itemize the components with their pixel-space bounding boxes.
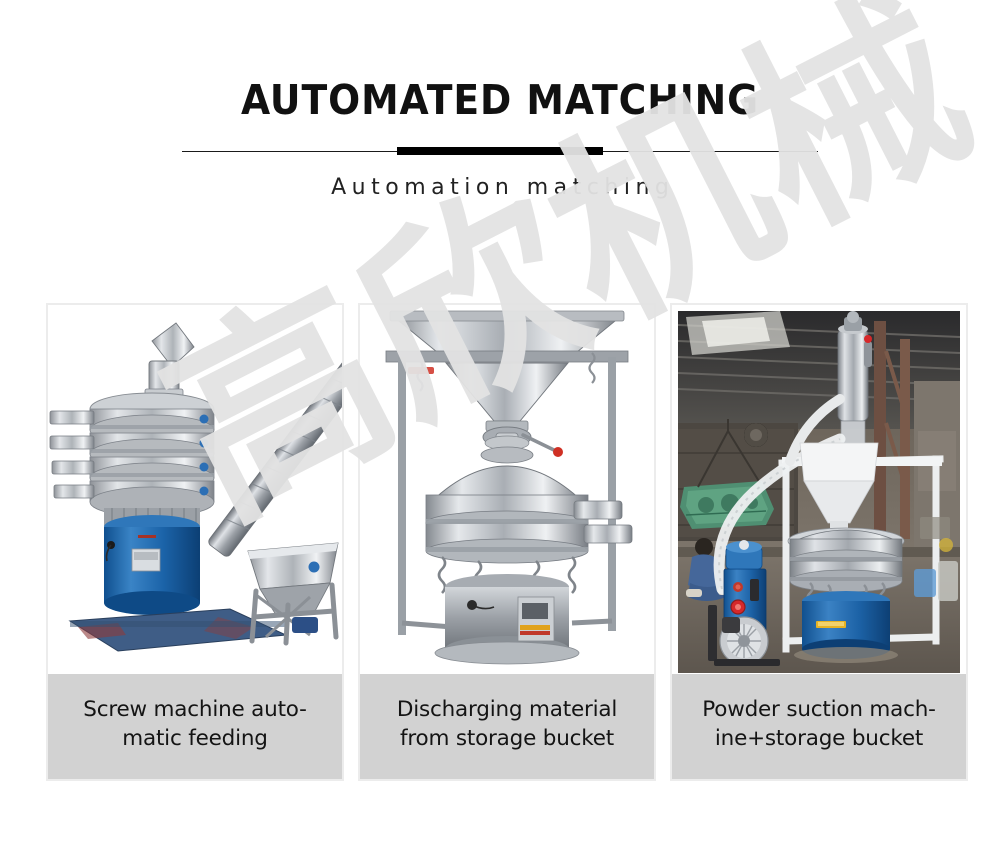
product-card[interactable]: Discharging material from storage bucket <box>358 303 656 781</box>
page-subtitle: Automation matching <box>0 175 1000 200</box>
caption-text: Discharging material from storage bucket <box>397 696 617 753</box>
product-card[interactable]: Powder suction mach- ine+storage bucket <box>670 303 968 781</box>
powder-suction-machine-storage-bucket-photo <box>672 305 966 674</box>
screw-feeder-illustration <box>48 305 342 674</box>
caption-line-1: Powder suction mach- <box>702 697 935 722</box>
product-card-grid: Screw machine auto- matic feeding <box>46 303 968 781</box>
powder-suction-illustration <box>678 311 960 673</box>
workshop-photo <box>678 311 960 673</box>
card-caption: Discharging material from storage bucket <box>360 674 654 779</box>
page-title: AUTOMATED MATCHING <box>40 78 960 123</box>
page-header: AUTOMATED MATCHING Automation matching <box>0 78 1000 200</box>
storage-bucket-discharge-illustration <box>360 305 654 674</box>
caption-line-2: matic feeding <box>122 726 268 751</box>
screw-machine-automatic-feeding-photo <box>48 305 342 674</box>
caption-text: Powder suction mach- ine+storage bucket <box>702 696 935 753</box>
caption-line-1: Screw machine auto- <box>83 697 306 722</box>
caption-line-2: from storage bucket <box>400 726 614 751</box>
caption-text: Screw machine auto- matic feeding <box>83 696 306 753</box>
caption-line-2: ine+storage bucket <box>715 726 923 751</box>
caption-line-1: Discharging material <box>397 697 617 722</box>
card-caption: Powder suction mach- ine+storage bucket <box>672 674 966 779</box>
discharging-material-from-storage-bucket-photo <box>360 305 654 674</box>
card-caption: Screw machine auto- matic feeding <box>48 674 342 779</box>
product-card[interactable]: Screw machine auto- matic feeding <box>46 303 344 781</box>
divider-accent-bar <box>397 147 603 155</box>
title-divider <box>182 147 818 155</box>
page-root: AUTOMATED MATCHING Automation matching <box>0 0 1000 852</box>
